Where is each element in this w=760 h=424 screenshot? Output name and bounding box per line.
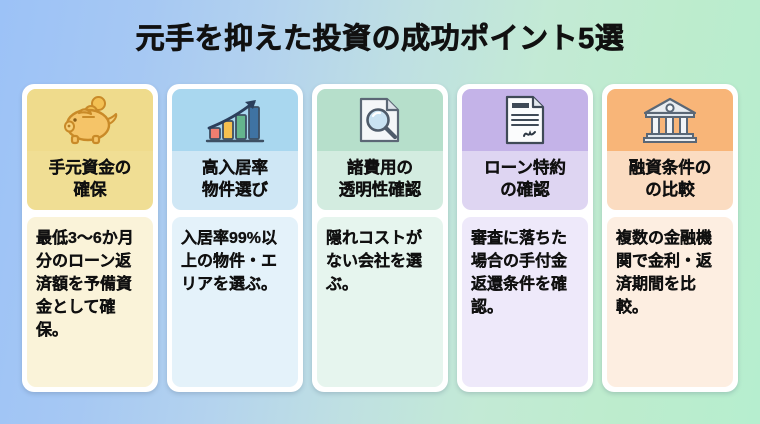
contract-document-icon	[462, 89, 588, 151]
card-title: 手元資金の 確保	[27, 151, 153, 210]
card-nyukyoritsu[interactable]: 高入居率 物件選び 入居率99%以上の物件・エリアを選ぶ。	[167, 84, 303, 392]
card-title: 諸費用の 透明性確認	[317, 151, 443, 210]
card-body: 審査に落ちた場合の手付金返還条件を確認。	[462, 217, 588, 387]
card-yushi-joken[interactable]: 融資条件の の比較 複数の金融機関で金利・返済期間を比較。	[602, 84, 738, 392]
card-header: ローン特約 の確認	[462, 89, 588, 210]
card-tegane-shikin[interactable]: 手元資金の 確保 最低3〜6か月分のローン返済額を予備資金として確保。	[22, 84, 158, 392]
card-title: 高入居率 物件選び	[172, 151, 298, 210]
piggy-bank-icon	[27, 89, 153, 151]
card-body: 複数の金融機関で金利・返済期間を比較。	[607, 217, 733, 387]
document-search-icon	[317, 89, 443, 151]
page-title: 元手を抑えた投資の成功ポイント5選	[0, 19, 760, 59]
infographic-canvas: 元手を抑えた投資の成功ポイント5選	[0, 0, 760, 424]
bank-building-icon	[607, 89, 733, 151]
card-body: 隠れコストがない会社を選ぶ。	[317, 217, 443, 387]
card-body: 入居率99%以上の物件・エリアを選ぶ。	[172, 217, 298, 387]
card-title: ローン特約 の確認	[462, 151, 588, 210]
card-header: 諸費用の 透明性確認	[317, 89, 443, 210]
cards-row: 手元資金の 確保 最低3〜6か月分のローン返済額を予備資金として確保。	[22, 84, 738, 396]
card-loan-tokuyaku[interactable]: ローン特約 の確認 審査に落ちた場合の手付金返還条件を確認。	[457, 84, 593, 392]
card-header: 手元資金の 確保	[27, 89, 153, 210]
card-header: 融資条件の の比較	[607, 89, 733, 210]
bar-chart-growth-icon	[172, 89, 298, 151]
card-shohiyo-tomeisei[interactable]: 諸費用の 透明性確認 隠れコストがない会社を選ぶ。	[312, 84, 448, 392]
card-title: 融資条件の の比較	[607, 151, 733, 210]
card-body: 最低3〜6か月分のローン返済額を予備資金として確保。	[27, 217, 153, 387]
card-header: 高入居率 物件選び	[172, 89, 298, 210]
